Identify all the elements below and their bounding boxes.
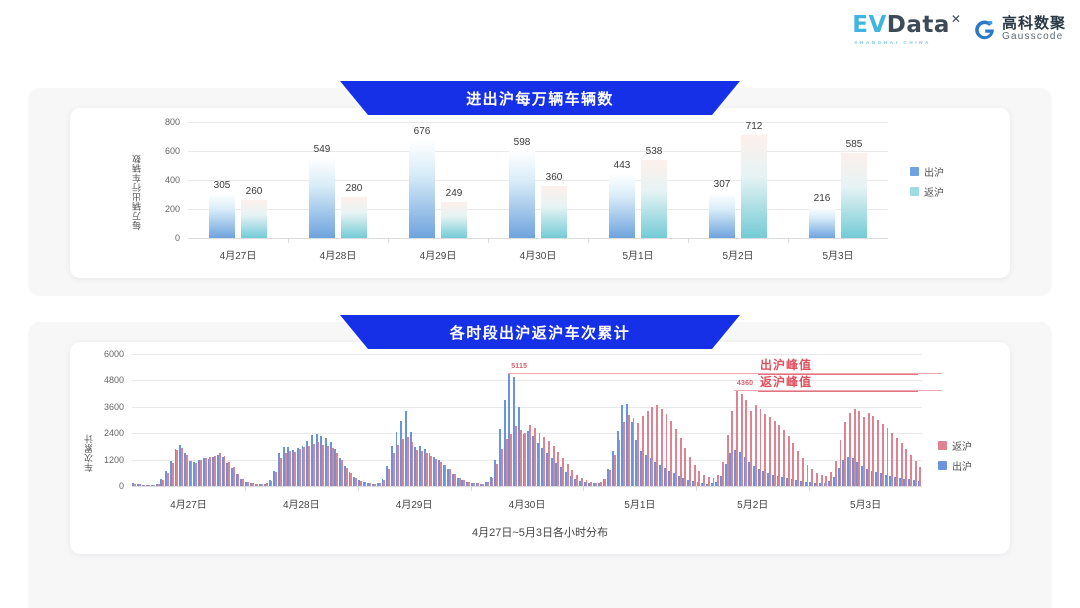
hour-bar-return	[891, 433, 893, 486]
hour-bar-return	[713, 478, 715, 486]
hour-bar-return	[332, 448, 334, 486]
legend-item-出沪[interactable]: 出沪	[910, 164, 944, 179]
bar-value-label: 307	[714, 179, 731, 190]
hour-bar-return	[600, 482, 602, 486]
evdata-subtitle: SHANGHAI CHINA	[854, 40, 931, 45]
chart-one-title: 进出沪每万辆车辆数	[466, 88, 614, 109]
gridline	[132, 407, 922, 408]
x-axis-tick: 4月27日	[170, 496, 207, 511]
hour-bar-return	[821, 475, 823, 486]
hour-bar-return	[327, 446, 329, 486]
hour-bar-return	[463, 480, 465, 486]
bar-返沪	[241, 200, 267, 238]
x-axis-tick: 4月27日	[220, 247, 257, 262]
hour-bar-return	[633, 418, 635, 486]
hour-bar-return	[176, 450, 178, 486]
hour-bar-return	[727, 435, 729, 486]
legend-swatch	[938, 441, 947, 450]
hour-bar-return	[609, 470, 611, 486]
hour-bar-return	[256, 484, 258, 486]
y-axis-tick: 400	[146, 175, 180, 185]
hour-bar-return	[482, 484, 484, 486]
hour-bar-return	[341, 460, 343, 486]
chart-panel-one: 每万辆出行车辆数02004006008004月27日3052604月28日549…	[28, 88, 1052, 296]
bar-出沪	[409, 140, 435, 238]
hour-bar-return	[252, 483, 254, 486]
hour-bar-return	[440, 462, 442, 486]
hour-bar-return	[661, 409, 663, 486]
hour-bar-return	[882, 424, 884, 486]
bar-返沪	[341, 197, 367, 238]
hour-bar-return	[289, 451, 291, 486]
hour-bar-return	[666, 414, 668, 486]
x-tick-mark	[245, 486, 246, 491]
hour-bar-return	[209, 457, 211, 486]
y-axis-tick: 0	[88, 481, 124, 491]
hour-bar-return	[426, 453, 428, 486]
chart-two-title: 各时段出沪返沪车次累计	[450, 322, 630, 343]
gridline	[188, 209, 888, 210]
hour-bar-return	[910, 455, 912, 486]
hour-bar-return	[430, 456, 432, 486]
chart-one-legend: 出沪返沪	[910, 164, 944, 204]
gridline	[132, 486, 922, 487]
hour-bar-return	[506, 439, 508, 486]
hour-bar-return	[670, 421, 672, 486]
hour-bar-return	[694, 465, 696, 486]
hour-bar-return	[393, 453, 395, 486]
hour-bar-return	[656, 405, 658, 486]
legend-item-出沪[interactable]: 出沪	[938, 458, 972, 473]
hour-bar-return	[854, 409, 856, 486]
bar-value-label: 712	[746, 121, 763, 132]
hour-bar-return	[553, 446, 555, 486]
hour-bar-return	[637, 423, 639, 486]
y-axis-tick: 2400	[88, 428, 124, 438]
legend-label: 出沪	[952, 458, 972, 473]
hour-bar-return	[708, 477, 710, 486]
bar-value-label: 249	[446, 188, 463, 199]
bar-value-label: 280	[346, 183, 363, 194]
hour-bar-return	[153, 485, 155, 486]
return-peak-value: 4360	[737, 380, 753, 387]
bar-出沪	[709, 194, 735, 239]
bar-value-label: 538	[646, 146, 663, 157]
bar-返沪	[741, 135, 767, 238]
hour-bar-return	[858, 411, 860, 486]
bar-出沪	[309, 158, 335, 238]
hour-bar-return	[214, 456, 216, 486]
legend-swatch	[910, 167, 919, 176]
hour-bar-return	[515, 426, 517, 486]
hour-bar-return	[144, 485, 146, 486]
return-peak-label: 返沪峰值	[760, 373, 812, 390]
hour-bar-return	[308, 446, 310, 486]
hour-bar-return	[844, 422, 846, 486]
hour-bar-return	[797, 451, 799, 486]
hour-bar-return	[811, 469, 813, 486]
hour-bar-return	[825, 476, 827, 486]
hour-bar-return	[901, 443, 903, 486]
hour-bar-return	[567, 464, 569, 486]
chart-one-y-axis-label: 每万辆出行车辆数	[130, 134, 143, 230]
hour-bar-return	[760, 409, 762, 486]
y-axis-tick: 4800	[88, 375, 124, 385]
evdata-logo: EVData ✕ SHANGHAI CHINA	[852, 14, 961, 45]
hour-bar-return	[736, 390, 738, 486]
hour-bar-return	[299, 449, 301, 486]
chart-two-legend: 返沪出沪	[938, 438, 972, 478]
hour-bar-return	[487, 482, 489, 486]
hour-bar-return	[774, 421, 776, 486]
hour-bar-return	[280, 458, 282, 486]
hour-bar-return	[459, 478, 461, 486]
hour-bar-return	[628, 415, 630, 487]
hour-bar-return	[534, 428, 536, 486]
hour-bar-return	[134, 484, 136, 486]
x-axis-tick: 5月2日	[722, 247, 753, 262]
hour-bar-return	[750, 411, 752, 486]
hour-bar-return	[698, 471, 700, 486]
evdata-x-icon: ✕	[951, 12, 961, 26]
bar-出沪	[209, 194, 235, 238]
bar-出沪	[609, 174, 635, 238]
hour-bar-return	[421, 451, 423, 486]
hour-bar-return	[581, 478, 583, 486]
hour-bar-return	[454, 474, 456, 486]
hour-bar-return	[887, 428, 889, 486]
hour-bar-return	[303, 447, 305, 486]
hour-bar-return	[717, 475, 719, 486]
legend-swatch	[938, 461, 947, 470]
x-axis-tick: 5月1日	[624, 496, 655, 511]
hour-bar-return	[788, 436, 790, 486]
hour-bar-return	[397, 445, 399, 486]
y-axis-tick: 600	[146, 146, 180, 156]
return-peak-underline	[758, 391, 918, 392]
bar-value-label: 360	[546, 172, 563, 183]
chart-two-x-caption: 4月27日~5月3日各小时分布	[70, 524, 1010, 540]
gridline	[132, 354, 922, 355]
hour-bar-return	[792, 443, 794, 486]
gridline	[188, 180, 888, 181]
hour-bar-return	[374, 484, 376, 486]
x-tick-mark	[696, 486, 697, 491]
hour-bar-return	[360, 481, 362, 487]
hour-bar-return	[350, 473, 352, 486]
hour-bar-return	[807, 465, 809, 486]
hour-bar-return	[816, 473, 818, 486]
hour-bar-return	[261, 484, 263, 486]
hour-bar-return	[755, 405, 757, 486]
y-axis-tick: 1200	[88, 455, 124, 465]
legend-item-返沪[interactable]: 返沪	[910, 184, 944, 199]
hour-bar-return	[623, 422, 625, 486]
hour-bar-return	[228, 462, 230, 486]
hour-bar-return	[769, 417, 771, 486]
x-tick-mark	[788, 238, 789, 243]
x-tick-mark	[809, 486, 810, 491]
x-tick-mark	[358, 486, 359, 491]
bar-返沪	[841, 153, 867, 238]
bar-出沪	[509, 151, 535, 238]
hour-bar-return	[689, 457, 691, 486]
hour-bar-return	[407, 437, 409, 486]
hour-bar-return	[745, 400, 747, 486]
hour-bar-return	[840, 440, 842, 486]
hour-bar-return	[473, 483, 475, 486]
x-tick-mark	[471, 486, 472, 491]
legend-swatch	[910, 187, 919, 196]
y-axis-tick: 200	[146, 204, 180, 214]
hour-bar-return	[285, 453, 287, 486]
hour-bar-return	[543, 437, 545, 486]
x-tick-mark	[388, 238, 389, 243]
bar-返沪	[641, 160, 667, 238]
x-tick-mark	[588, 238, 589, 243]
bar-value-label: 260	[246, 186, 263, 197]
bar-返沪	[441, 202, 467, 238]
x-tick-mark	[583, 486, 584, 491]
chart-panel-two: 车次累计0120024003600480060004月27日4月28日4月29日…	[28, 322, 1052, 608]
hour-bar-return	[445, 465, 447, 486]
hour-bar-return	[266, 483, 268, 486]
brand-header: EVData ✕ SHANGHAI CHINA 高科数聚 Gausscode	[852, 14, 1066, 45]
hour-bar-return	[675, 429, 677, 486]
y-axis-tick: 6000	[88, 349, 124, 359]
hour-bar-return	[590, 482, 592, 486]
hour-bar-return	[764, 414, 766, 486]
hour-bar-return	[614, 455, 616, 486]
hour-bar-return	[529, 425, 531, 486]
hour-bar-return	[148, 485, 150, 486]
hour-bar-return	[557, 452, 559, 486]
hour-bar-return	[651, 407, 653, 486]
hour-bar-return	[200, 460, 202, 486]
hour-bar-return	[783, 430, 785, 486]
hour-bar-return	[576, 475, 578, 486]
hour-bar-return	[271, 481, 273, 486]
hour-bar-return	[915, 461, 917, 486]
hour-bar-return	[224, 456, 226, 486]
hour-bar-return	[849, 413, 851, 486]
evdata-wordmark: EVData	[852, 14, 950, 37]
bar-value-label: 216	[814, 193, 831, 204]
out-peak-value: 5115	[511, 363, 527, 370]
hour-bar-return	[539, 433, 541, 486]
gridline	[188, 122, 888, 123]
hour-bar-return	[496, 464, 498, 486]
hour-bar-return	[571, 470, 573, 486]
bar-value-label: 443	[614, 160, 631, 171]
hour-bar-return	[242, 479, 244, 486]
bar-value-label: 598	[514, 137, 531, 148]
x-tick-mark	[688, 238, 689, 243]
hour-bar-return	[412, 442, 414, 486]
hour-bar-return	[680, 438, 682, 486]
hour-bar-return	[219, 453, 221, 486]
bar-chart-daily: 每万辆出行车辆数02004006008004月27日3052604月28日549…	[70, 108, 1010, 278]
hour-bar-return	[524, 433, 526, 486]
hour-bar-return	[919, 467, 921, 486]
gausscode-en-name: Gausscode	[1002, 32, 1066, 43]
hour-bar-return	[520, 430, 522, 486]
hour-bar-return	[703, 475, 705, 486]
hour-bar-return	[510, 434, 512, 486]
hour-bar-return	[388, 469, 390, 486]
x-axis-tick: 4月30日	[520, 247, 557, 262]
hour-bar-return	[562, 458, 564, 486]
hour-bar-return	[722, 462, 724, 486]
hour-bar-return	[905, 449, 907, 486]
hour-bar-return	[402, 439, 404, 486]
gausscode-g-icon	[973, 18, 996, 41]
hour-bar-return	[365, 482, 367, 486]
hour-bar-return	[501, 449, 503, 486]
hour-bar-return	[172, 463, 174, 486]
hour-bar-return	[741, 394, 743, 486]
x-tick-mark	[488, 238, 489, 243]
hour-bar-return	[139, 484, 141, 486]
hour-bar-return	[877, 420, 879, 486]
hour-bar-return	[778, 425, 780, 486]
hour-bar-return	[835, 461, 837, 486]
x-axis-tick: 5月2日	[737, 496, 768, 511]
chart-card-two: 车次累计0120024003600480060004月27日4月28日4月29日…	[70, 342, 1010, 554]
x-tick-mark	[288, 238, 289, 243]
hour-bar-return	[731, 411, 733, 486]
gridline	[188, 151, 888, 152]
hour-bar-return	[383, 480, 385, 486]
hour-bar-return	[604, 479, 606, 486]
x-axis-tick: 5月1日	[622, 247, 653, 262]
hour-bar-return	[205, 458, 207, 486]
hour-bar-return	[322, 445, 324, 486]
hour-bar-return	[167, 473, 169, 486]
gausscode-cn-name: 高科数聚	[1002, 16, 1066, 32]
bar-value-label: 676	[414, 126, 431, 137]
hour-bar-return	[181, 448, 183, 486]
hour-bar-return	[195, 463, 197, 486]
hour-bar-return	[802, 458, 804, 486]
legend-item-返沪[interactable]: 返沪	[938, 438, 972, 453]
y-axis-tick: 800	[146, 117, 180, 127]
bar-返沪	[541, 186, 567, 238]
x-axis-tick: 4月29日	[396, 496, 433, 511]
hour-bar-return	[830, 472, 832, 486]
x-axis-tick: 4月28日	[283, 496, 320, 511]
hour-bar-return	[477, 483, 479, 486]
hour-bar-return	[619, 440, 621, 486]
hour-bar-return	[379, 483, 381, 486]
y-axis-tick: 3600	[88, 402, 124, 412]
y-axis-tick: 0	[146, 233, 180, 243]
hour-bar-return	[868, 413, 870, 486]
hour-bar-return	[191, 461, 193, 486]
hour-bar-return	[158, 484, 160, 486]
hour-bar-return	[863, 417, 865, 486]
x-axis-tick: 4月30日	[509, 496, 546, 511]
hour-bar-return	[896, 438, 898, 486]
hour-bar-return	[872, 416, 874, 486]
bar-value-label: 585	[846, 139, 863, 150]
hour-bar-return	[548, 441, 550, 486]
hour-bar-return	[642, 416, 644, 486]
hour-bar-return	[595, 483, 597, 486]
x-axis-tick: 5月3日	[850, 496, 881, 511]
hour-bar-return	[162, 480, 164, 486]
legend-label: 返沪	[924, 184, 944, 199]
x-axis-tick: 4月29日	[420, 247, 457, 262]
hour-bar-return	[346, 468, 348, 486]
hour-bar-return	[369, 483, 371, 486]
hour-bar-return	[186, 455, 188, 486]
hour-bar-return	[294, 452, 296, 486]
hour-bar-return	[684, 448, 686, 486]
bar-chart-hourly: 车次累计0120024003600480060004月27日4月28日4月29日…	[70, 342, 1010, 554]
hour-bar-return	[233, 467, 235, 486]
chart-one-title-ribbon: 进出沪每万辆车辆数	[340, 81, 740, 115]
hour-bar-return	[238, 474, 240, 486]
gridline	[188, 238, 888, 239]
hour-bar-return	[586, 480, 588, 486]
hour-bar-return	[492, 478, 494, 486]
hour-bar-return	[313, 444, 315, 486]
dashboard-page: EVData ✕ SHANGHAI CHINA 高科数聚 Gausscode 每…	[0, 0, 1080, 608]
bar-出沪	[809, 207, 835, 238]
legend-label: 返沪	[952, 438, 972, 453]
hour-bar-return	[275, 472, 277, 486]
bar-value-label: 305	[214, 180, 231, 191]
hour-bar-return	[336, 453, 338, 486]
hour-bar-return	[318, 442, 320, 486]
out-peak-label: 出沪峰值	[760, 356, 812, 373]
gausscode-logo: 高科数聚 Gausscode	[973, 16, 1066, 42]
x-axis-tick: 5月3日	[822, 247, 853, 262]
hour-bar-return	[355, 478, 357, 486]
chart-two-title-ribbon: 各时段出沪返沪车次累计	[340, 315, 740, 349]
legend-label: 出沪	[924, 164, 944, 179]
hour-bar-return	[435, 459, 437, 486]
hour-bar-return	[647, 411, 649, 486]
hour-bar-return	[449, 469, 451, 486]
hour-bar-return	[247, 482, 249, 486]
chart-card-one: 每万辆出行车辆数02004006008004月27日3052604月28日549…	[70, 108, 1010, 278]
bar-value-label: 549	[314, 144, 331, 155]
hour-bar-return	[416, 450, 418, 486]
x-axis-tick: 4月28日	[320, 247, 357, 262]
